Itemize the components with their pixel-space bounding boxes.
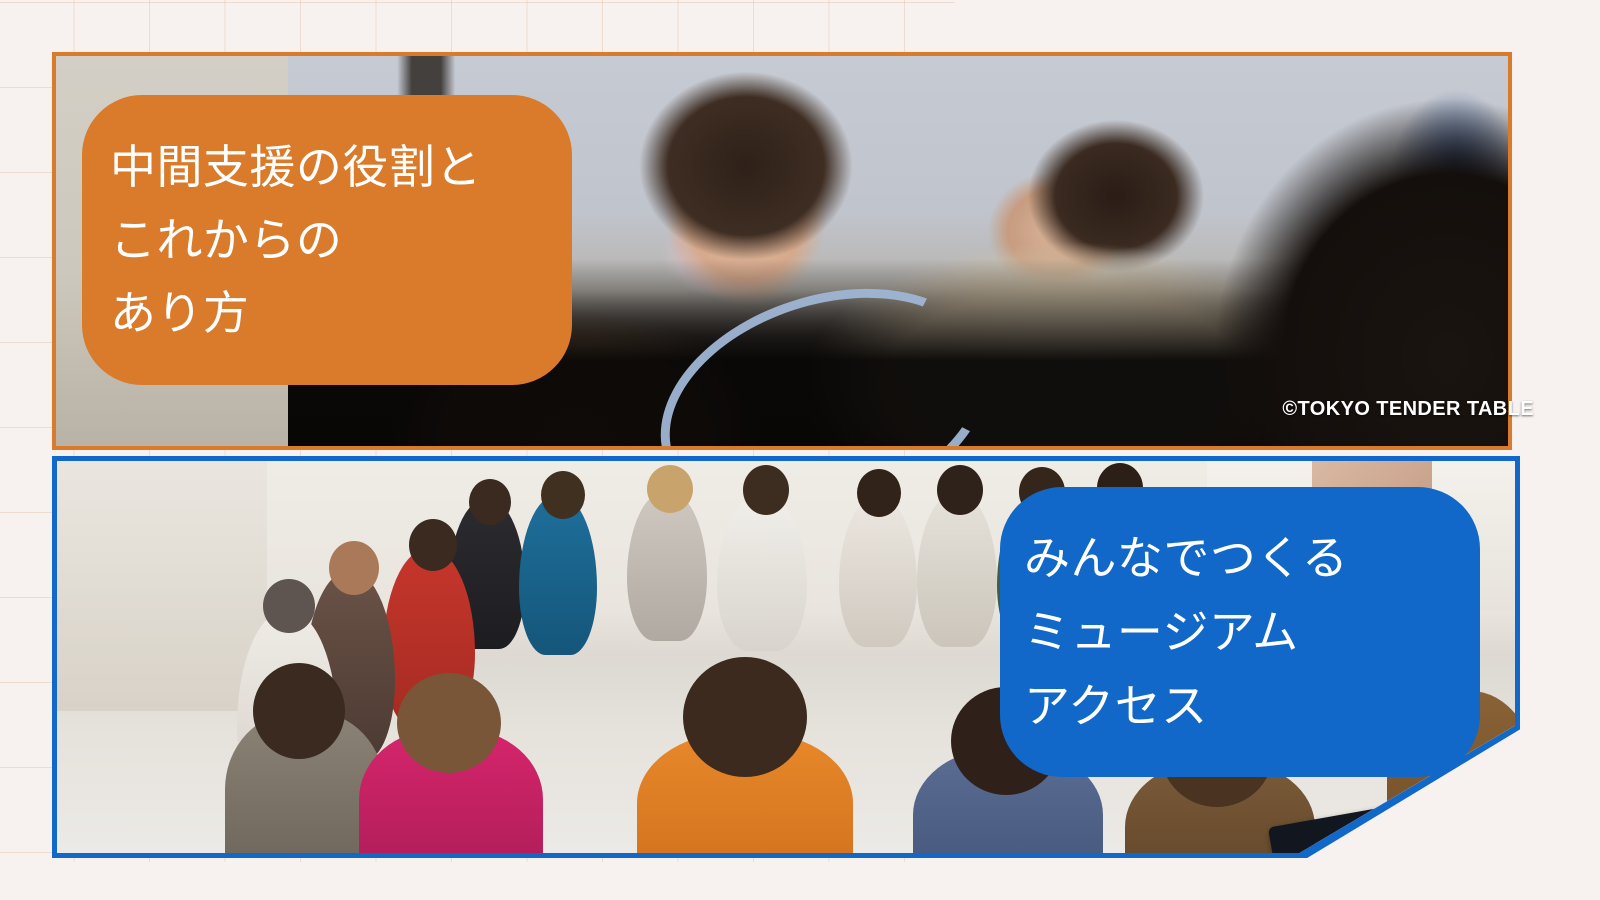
callout-orange-line-3: あり方	[110, 277, 572, 350]
callout-blue-lines: みんなでつくる ミュージアム アクセス	[1024, 521, 1480, 743]
participant-figure	[917, 493, 997, 647]
gallery-wall-panel-left	[57, 461, 267, 711]
photo-credit: ©TOKYO TENDER TABLE	[1282, 398, 1534, 421]
participant-head	[647, 465, 693, 513]
participant-head	[253, 663, 345, 759]
callout-museum-access: みんなでつくる ミュージアム アクセス	[1000, 487, 1480, 777]
callout-orange-lines: 中間支援の役割と これからの あり方	[110, 131, 572, 350]
participant-head	[397, 673, 501, 773]
callout-blue-line-2: ミュージアム	[1024, 595, 1480, 669]
participant-figure	[839, 497, 917, 647]
callout-intermediary-support: 中間支援の役割と これからの あり方	[82, 95, 572, 385]
participant-figure	[717, 495, 807, 651]
callout-orange-line-2: これからの	[110, 204, 572, 277]
participant-head	[683, 657, 807, 777]
callout-blue-line-3: アクセス	[1024, 669, 1480, 743]
participant-head	[743, 465, 789, 515]
callout-blue-line-1: みんなでつくる	[1024, 521, 1480, 595]
callout-orange-line-1: 中間支援の役割と	[110, 131, 572, 204]
participant-head	[469, 479, 511, 525]
background-grid-bottom-mask	[0, 862, 1600, 900]
participant-head	[541, 471, 585, 519]
slide-stage: ©TOKYO TENDER TABLE 中間支援の役割と これからの あり方	[0, 0, 1600, 900]
participant-head	[329, 541, 379, 595]
participant-head	[263, 579, 315, 633]
participant-head	[409, 519, 457, 571]
participant-head	[937, 465, 983, 515]
participant-head	[857, 469, 901, 517]
participant-figure	[519, 495, 597, 655]
participant-figure	[627, 491, 707, 641]
